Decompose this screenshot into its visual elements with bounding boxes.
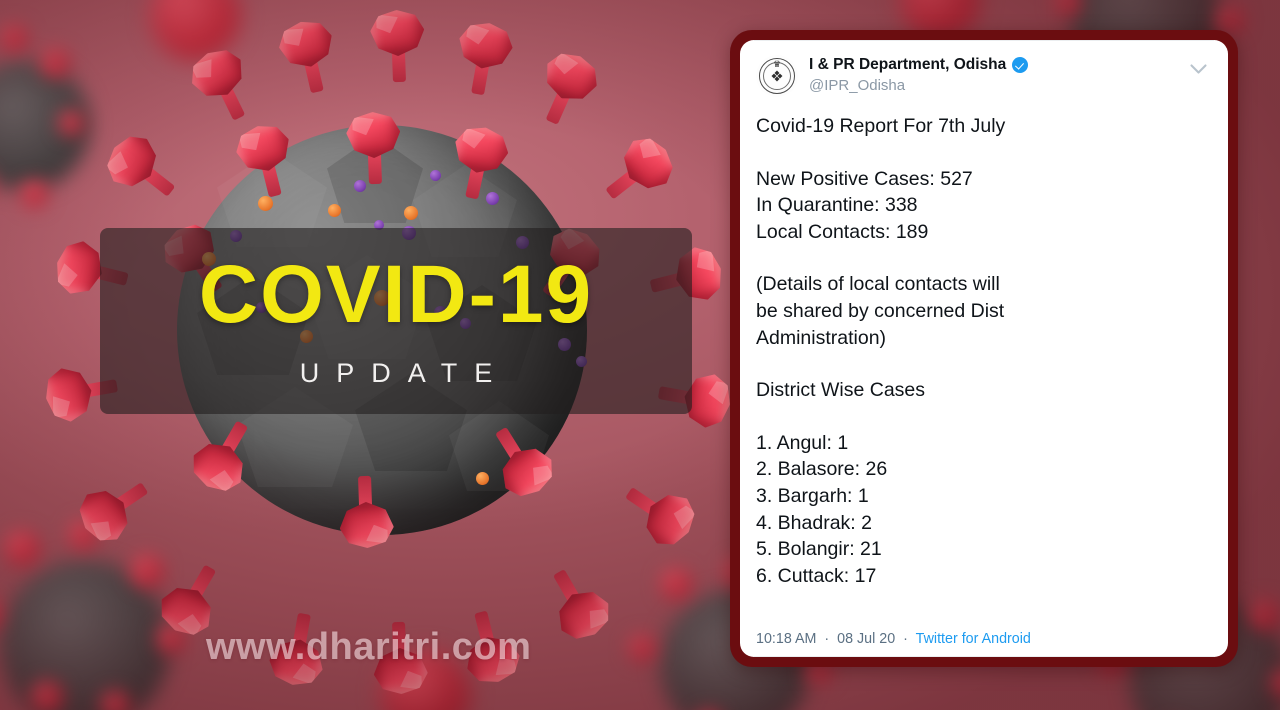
tweet-client-link[interactable]: Twitter for Android: [916, 631, 1031, 647]
tweet-time: 10:18 AM: [756, 631, 816, 647]
tweet-card: ♛ ❖ I & PR Department, Odisha @IPR_Odish…: [740, 40, 1228, 657]
verified-badge-icon: [1012, 57, 1028, 73]
covid-banner-subtitle: UPDATE: [283, 358, 510, 389]
district-case-line: 6. Cuttack: 17: [756, 563, 1212, 590]
covid-update-banner: COVID-19 UPDATE: [100, 228, 692, 414]
tweet-stat-line: In Quarantine: 338: [756, 192, 1212, 219]
tweet-note-line: be shared by concerned Dist: [756, 298, 1212, 325]
spacer: [756, 140, 1212, 166]
tweet-footer: 10:18 AM · 08 Jul 20 · Twitter for Andro…: [740, 625, 1228, 656]
government-emblem-icon: ❖: [770, 69, 783, 84]
tweet-header: ♛ ❖ I & PR Department, Odisha @IPR_Odish…: [740, 41, 1228, 97]
tweet-stat-line: Local Contacts: 189: [756, 219, 1212, 246]
tweet-stat-line: New Positive Cases: 527: [756, 166, 1212, 193]
tweet-note-line: Administration): [756, 325, 1212, 352]
tweet-date: 08 Jul 20: [837, 631, 895, 647]
footer-separator: ·: [899, 631, 912, 647]
district-case-line: 2. Balasore: 26: [756, 456, 1212, 483]
tweet-author-block: I & PR Department, Odisha @IPR_Odisha: [809, 55, 1184, 94]
tweet-report-heading: Covid-19 Report For 7th July: [756, 113, 1212, 140]
author-handle[interactable]: @IPR_Odisha: [809, 77, 1184, 94]
tweet-author-line: I & PR Department, Odisha: [809, 56, 1184, 74]
avatar[interactable]: ♛ ❖: [756, 55, 798, 97]
spacer: [756, 404, 1212, 430]
card-bottom-divider: [754, 656, 1214, 657]
tweet-body: Covid-19 Report For 7th July New Positiv…: [740, 97, 1228, 625]
district-case-line: 5. Bolangir: 21: [756, 536, 1212, 563]
tweet-section-title: District Wise Cases: [756, 377, 1212, 404]
tweet-note-line: (Details of local contacts will: [756, 271, 1212, 298]
district-case-line: 4. Bhadrak: 2: [756, 510, 1212, 537]
footer-separator: ·: [820, 631, 833, 647]
spacer: [756, 245, 1212, 271]
district-case-line: 3. Bargarh: 1: [756, 483, 1212, 510]
tweet-card-frame: ♛ ❖ I & PR Department, Odisha @IPR_Odish…: [730, 30, 1238, 667]
author-display-name[interactable]: I & PR Department, Odisha: [809, 56, 1006, 74]
district-case-line: 1. Angul: 1: [756, 430, 1212, 457]
spacer: [756, 351, 1212, 377]
chevron-down-icon[interactable]: [1184, 55, 1212, 83]
covid-banner-title: COVID-19: [199, 254, 593, 336]
site-watermark: www.dharitri.com: [206, 626, 531, 669]
